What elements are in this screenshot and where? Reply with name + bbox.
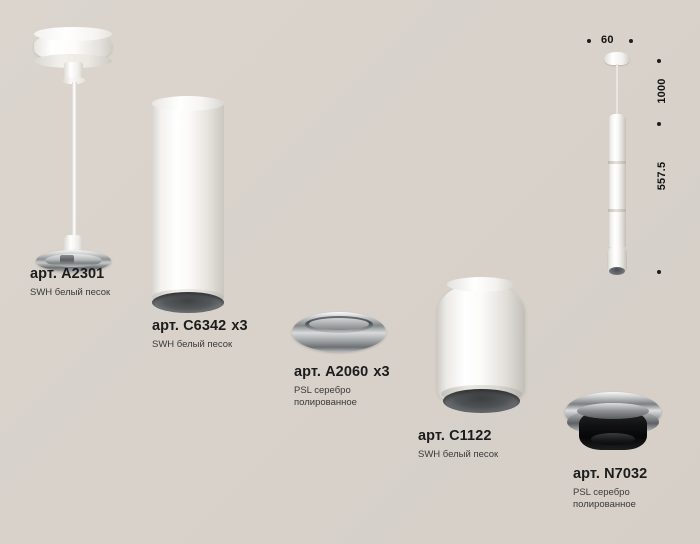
diagram-canvas: арт. A2301 SWH белый песок арт. C6342x3 … xyxy=(0,0,700,544)
cone-inner-lip xyxy=(577,403,649,419)
dim-dot-width-right xyxy=(629,39,633,43)
upper-joint-cup xyxy=(64,62,83,84)
chrome-plate-hub xyxy=(60,255,74,264)
suspension-rod xyxy=(72,82,77,240)
label-a2060-article: арт. A2060x3 xyxy=(294,364,390,381)
component-a2060 xyxy=(292,312,386,354)
component-a2301 xyxy=(28,32,120,262)
assembly-dome-aperture xyxy=(609,267,625,275)
label-c1122-article: арт. C1122 xyxy=(418,428,498,445)
component-n7032 xyxy=(565,392,665,454)
label-a2060: арт. A2060x3 PSL серебро полированное xyxy=(294,364,390,410)
dim-dot-drop-top xyxy=(657,59,661,63)
assembled-pendant-lamp xyxy=(596,52,640,277)
label-c6342-finish: SWH белый песок xyxy=(152,339,248,352)
label-a2060-quantity: x3 xyxy=(373,364,389,380)
label-a2301: арт. A2301 SWH белый песок xyxy=(30,266,110,299)
dim-dot-width-left xyxy=(587,39,591,43)
label-n7032-article: арт. N7032 xyxy=(573,466,647,483)
label-c1122-finish: SWH белый песок xyxy=(418,449,498,462)
dim-label-fixture-length: 557.5 xyxy=(656,155,668,197)
label-c1122: арт. C1122 SWH белый песок xyxy=(418,428,498,461)
ring-inner-highlight xyxy=(309,318,369,330)
assembly-tube-segment-3 xyxy=(608,212,626,247)
label-c6342-quantity: x3 xyxy=(231,318,247,334)
barrel-inner-cavity xyxy=(443,389,520,413)
cylinder-body xyxy=(152,103,224,306)
barrel-top-face xyxy=(447,277,515,292)
dim-label-width: 60 xyxy=(601,34,614,46)
label-n7032: арт. N7032 PSL серебро полированное xyxy=(573,466,647,512)
label-c6342-article: арт. C6342x3 xyxy=(152,318,248,335)
component-c6342 xyxy=(152,96,228,312)
label-c6342: арт. C6342x3 SWH белый песок xyxy=(152,318,248,351)
label-n7032-finish: PSL серебро полированное xyxy=(573,487,647,512)
dim-dot-fixture-bottom xyxy=(657,270,661,274)
assembly-tube-segment-1 xyxy=(608,114,626,163)
dim-dot-drop-bottom xyxy=(657,122,661,126)
label-a2301-finish: SWH белый песок xyxy=(30,287,110,300)
label-a2301-article: арт. A2301 xyxy=(30,266,110,283)
dim-label-drop-total: 1000 xyxy=(656,74,668,108)
cylinder-inner-cavity xyxy=(152,292,224,313)
assembly-suspension-cable xyxy=(616,64,618,114)
assembly-tube-segment-2 xyxy=(608,164,626,211)
canopy-top-face xyxy=(34,27,112,41)
component-c1122 xyxy=(437,277,529,419)
label-a2060-finish: PSL серебро полированное xyxy=(294,385,390,410)
cylinder-top-face xyxy=(152,96,224,111)
